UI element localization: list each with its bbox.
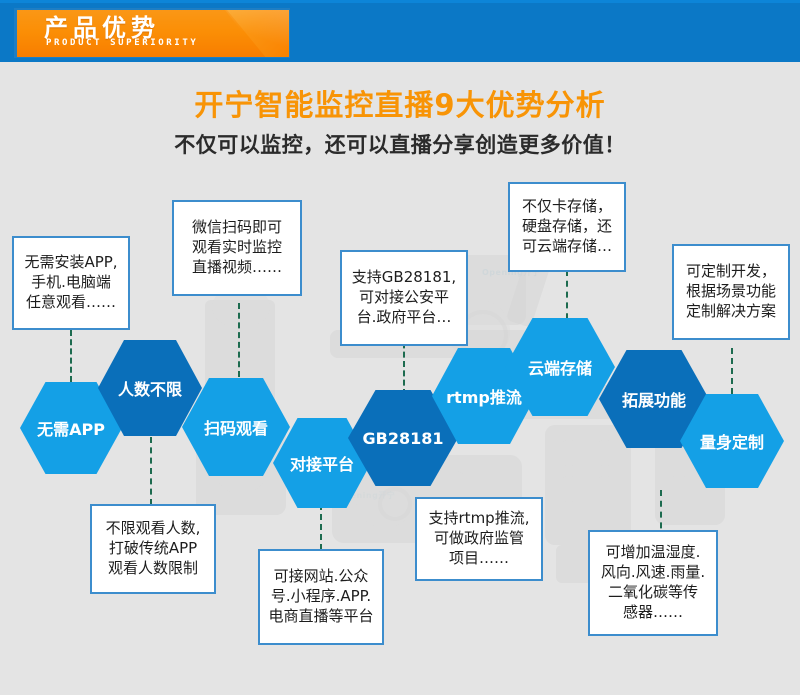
top-band-highlight bbox=[0, 0, 800, 3]
callout-platform-coverage: 可接网站.公众 号.小程序.APP. 电商直播等平台 bbox=[258, 549, 384, 645]
connector-line-1 bbox=[70, 330, 72, 382]
hexagon-label: 量身定制 bbox=[700, 429, 764, 453]
callout-custom-development: 可定制开发， 根据场景功能 定制解决方案 bbox=[672, 244, 790, 340]
hexagon-label: GB28181 bbox=[363, 429, 444, 448]
hexagon-label: 无需APP bbox=[37, 416, 105, 440]
callout-unlimited-audience: 不限观看人数, 打破传统APP 观看人数限制 bbox=[90, 504, 216, 594]
callout-no-app-install: 无需安装APP, 手机.电脑端 任意观看…… bbox=[12, 236, 130, 330]
hexagon-label: 对接平台 bbox=[290, 451, 354, 475]
connector-line-9 bbox=[731, 348, 733, 394]
callout-gb28181-support: 支持GB28181, 可对接公安平 台.政府平台… bbox=[340, 250, 468, 346]
hexagon-label: 人数不限 bbox=[118, 376, 182, 400]
page-title: 开宁智能监控直播9大优势分析 bbox=[0, 82, 800, 124]
callout-wechat-scan: 微信扫码即可 观看实时监控 直播视频…… bbox=[172, 200, 302, 296]
banner-title-en: PRODUCT SUPERIORITY bbox=[46, 38, 198, 48]
hexagon-label: rtmp推流 bbox=[446, 384, 522, 408]
callout-rtmp-government: 支持rtmp推流, 可做政府监管 项目…… bbox=[415, 497, 543, 581]
hexagon-label: 云端存储 bbox=[528, 355, 592, 379]
callout-storage-options: 不仅卡存储， 硬盘存储，还 可云端存储… bbox=[508, 182, 626, 272]
product-advantage-infographic: Opening开宁 Opening开宁 产品优势 PRODUCT SUPERIO… bbox=[0, 0, 800, 695]
connector-line-3 bbox=[238, 303, 240, 377]
connector-line-2 bbox=[150, 437, 152, 505]
page-subtitle: 不仅可以监控，还可以直播分享创造更多价值！ bbox=[0, 129, 800, 159]
hexagon-label: 拓展功能 bbox=[622, 387, 686, 411]
hexagon-label: 扫码观看 bbox=[204, 415, 268, 439]
callout-sensors: 可增加温湿度. 风向.风速.雨量. 二氧化碳等传 感器…… bbox=[588, 530, 718, 636]
